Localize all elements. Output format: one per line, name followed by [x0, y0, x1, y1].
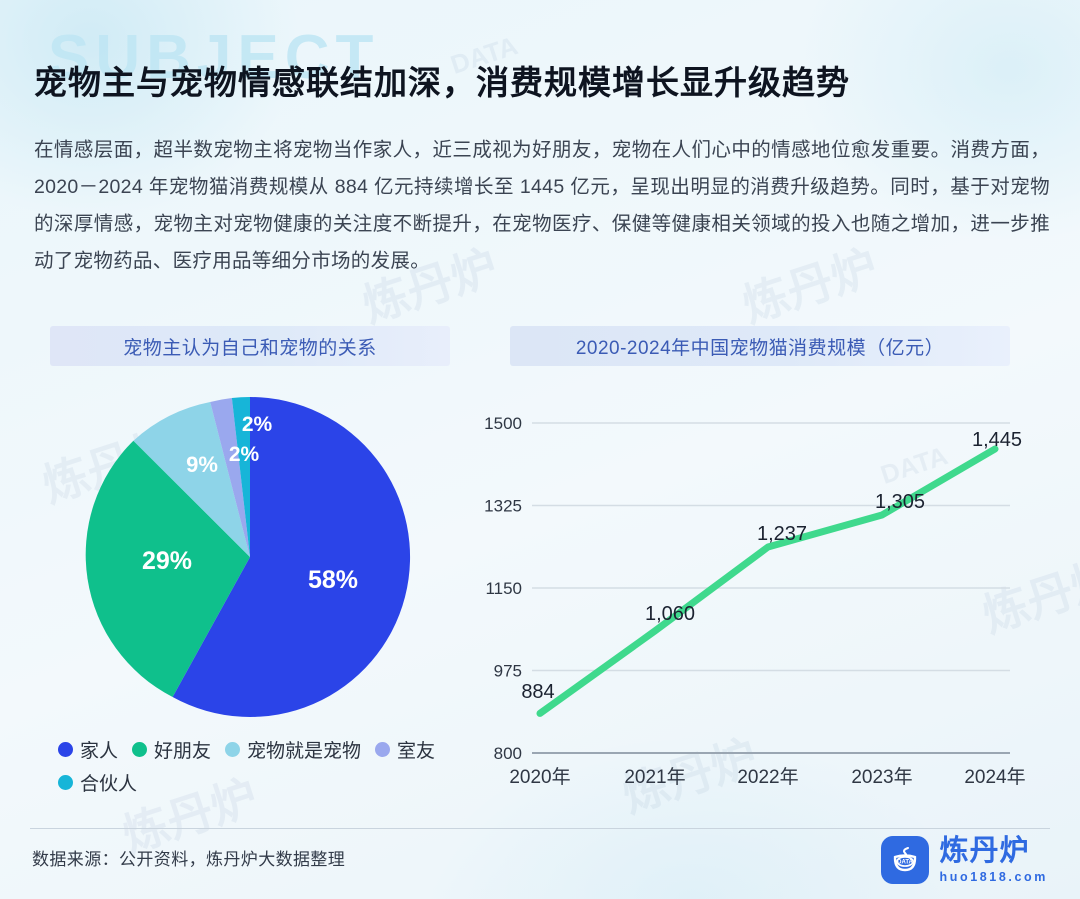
- y-tick-label: 1500: [484, 414, 522, 433]
- data-source-text: 数据来源：公开资料，炼丹炉大数据整理: [32, 845, 345, 870]
- point-label-2023: 1,305: [875, 491, 925, 513]
- y-tick-label: 1325: [484, 497, 522, 516]
- legend-swatch-icon: [225, 742, 240, 757]
- y-tick-label: 800: [494, 744, 522, 763]
- point-label-2021: 1,060: [645, 603, 695, 625]
- legend-item-partner[interactable]: 合伙人: [58, 769, 137, 796]
- legend-item-good-friend[interactable]: 好朋友: [132, 736, 211, 763]
- pie-chart: 58% 29% 9% 2% 2%: [55, 392, 445, 722]
- page-title: 宠物主与宠物情感联结加深，消费规模增长显升级趋势: [34, 56, 850, 104]
- pie-value-just-a-pet: 9%: [186, 452, 218, 477]
- legend-item-roommate[interactable]: 室友: [375, 736, 435, 763]
- legend-label: 宠物就是宠物: [247, 736, 361, 763]
- brand-mark-icon: DATA: [881, 836, 929, 884]
- line-chart-svg: 1500 1325 1150 975 800 884 1,060 1,237 1…: [470, 398, 1035, 798]
- legend-label: 家人: [80, 736, 118, 763]
- pie-value-good-friend: 29%: [142, 547, 192, 575]
- legend-item-family[interactable]: 家人: [58, 736, 118, 763]
- legend-label: 合伙人: [80, 769, 137, 796]
- legend-swatch-icon: [58, 742, 73, 757]
- footer-divider: [30, 828, 1050, 829]
- brand-text: 炼丹炉 huo1818.com: [940, 837, 1049, 884]
- line-chart: 1500 1325 1150 975 800 884 1,060 1,237 1…: [470, 398, 1035, 798]
- pie-value-partner: 2%: [242, 413, 273, 436]
- brand-name: 炼丹炉: [940, 837, 1049, 866]
- line-chart-title: 2020-2024年中国宠物猫消费规模（亿元）: [510, 326, 1010, 366]
- pie-chart-title: 宠物主认为自己和宠物的关系: [50, 326, 450, 366]
- point-label-2024: 1,445: [972, 429, 1022, 451]
- brand-logo[interactable]: DATA 炼丹炉 huo1818.com: [881, 836, 1049, 884]
- point-label-2022: 1,237: [757, 523, 807, 545]
- legend-label: 室友: [397, 736, 435, 763]
- brand-mark-text: DATA: [897, 860, 913, 866]
- y-tick-label: 975: [494, 662, 522, 681]
- legend-swatch-icon: [375, 742, 390, 757]
- legend-swatch-icon: [132, 742, 147, 757]
- x-tick-label: 2023年: [851, 766, 912, 788]
- intro-paragraph: 在情感层面，超半数宠物主将宠物当作家人，近三成视为好朋友，宠物在人们心中的情感地…: [34, 132, 1050, 280]
- line-series-pet-cat-spending[interactable]: [540, 449, 995, 713]
- x-tick-label: 2021年: [624, 766, 685, 788]
- y-tick-label: 1150: [485, 579, 522, 598]
- legend-item-just-a-pet[interactable]: 宠物就是宠物: [225, 736, 361, 763]
- x-tick-label: 2022年: [737, 766, 798, 788]
- pie-legend: 家人 好朋友 宠物就是宠物 室友 合伙人: [58, 736, 458, 796]
- pie-chart-svg: 58% 29% 9% 2% 2%: [85, 392, 415, 722]
- infographic-page: 宠物主与宠物情感联结加深，消费规模增长显升级趋势 在情感层面，超半数宠物主将宠物…: [0, 0, 1080, 899]
- point-label-2020: 884: [521, 681, 554, 703]
- x-tick-label: 2024年: [964, 766, 1025, 788]
- pie-value-roommate: 2%: [229, 443, 260, 466]
- x-tick-label: 2020年: [509, 766, 570, 788]
- legend-swatch-icon: [58, 775, 73, 790]
- brand-url: huo1818.com: [940, 871, 1049, 884]
- pie-value-family: 58%: [308, 566, 358, 594]
- legend-label: 好朋友: [154, 736, 211, 763]
- crucible-icon: DATA: [888, 843, 922, 877]
